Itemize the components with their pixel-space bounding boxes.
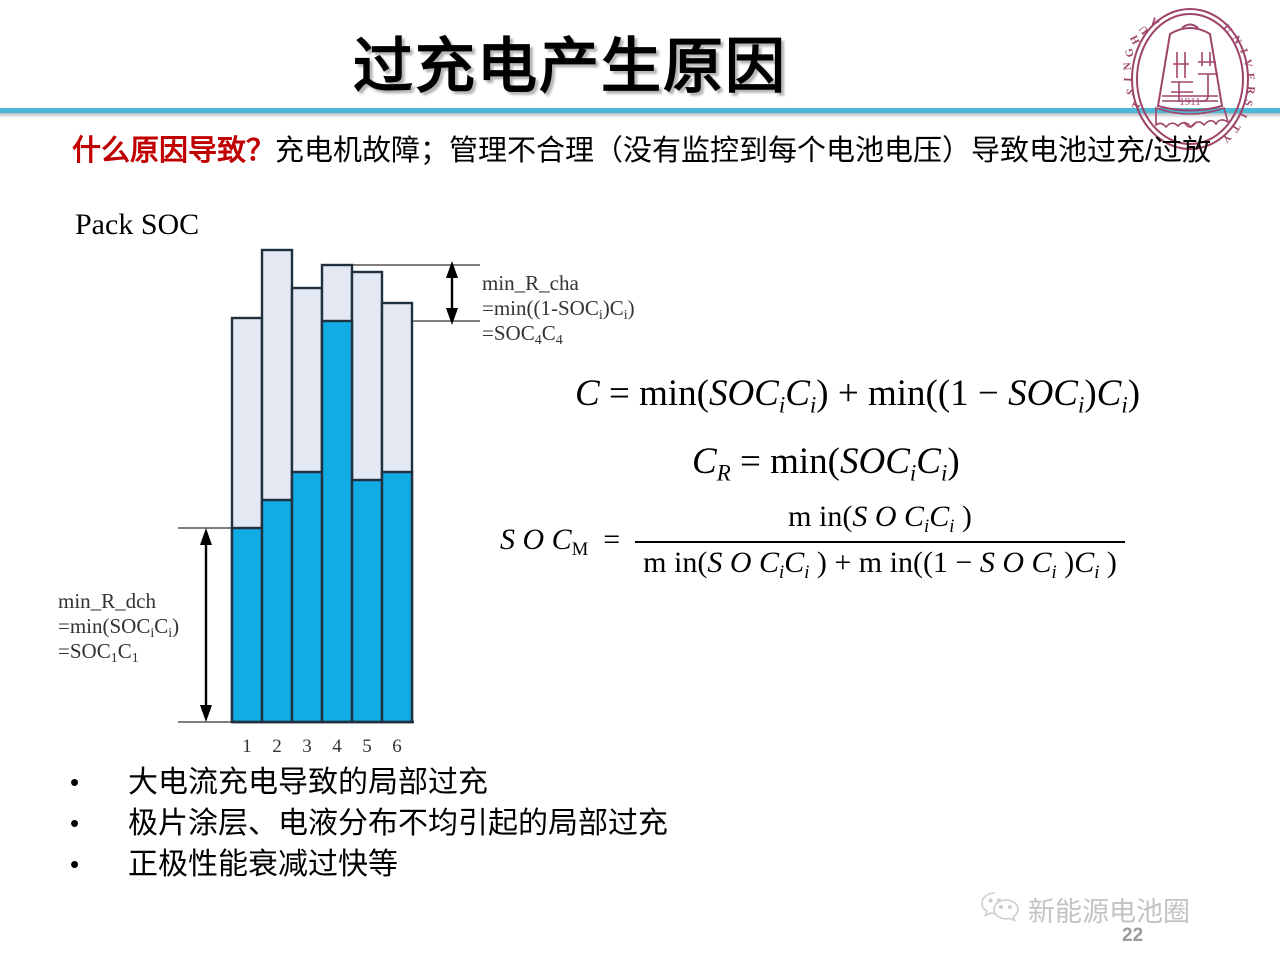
min-r-cha-arrow bbox=[446, 261, 458, 325]
bar-fill-4 bbox=[322, 321, 352, 722]
svg-text:min_R_dch: min_R_dch bbox=[58, 589, 156, 613]
list-item: • 正极性能衰减过快等 bbox=[70, 844, 668, 885]
svg-text:T: T bbox=[1130, 99, 1144, 111]
x-tick-4: 4 bbox=[332, 736, 342, 757]
svg-text:S: S bbox=[1124, 88, 1137, 97]
watermark-text: 新能源电池圈 bbox=[1028, 890, 1190, 929]
svg-text:N: N bbox=[1122, 62, 1134, 71]
list-item: • 极片涂层、电液分布不均引起的局部过充 bbox=[70, 803, 668, 844]
bar-fill-6 bbox=[382, 472, 412, 722]
svg-text:I: I bbox=[1122, 77, 1134, 82]
min-r-cha-annotation: min_R_cha =min((1-SOCi)Ci) =SOC4C4 bbox=[482, 271, 635, 348]
svg-text:V: V bbox=[1241, 58, 1254, 68]
bullet-list: • 大电流充电导致的局部过充 • 极片涂层、电液分布不均引起的局部过充 • 正极… bbox=[70, 762, 668, 885]
formula-capacity: C = min(SOCiCi) + min((1 − SOCi)Ci) bbox=[575, 372, 1140, 418]
formula-capacity-remaining: CR = min(SOCiCi) bbox=[692, 440, 960, 486]
bullet-text: 大电流充电导致的局部过充 bbox=[128, 762, 488, 803]
x-tick-5: 5 bbox=[362, 736, 372, 757]
bullet-marker: • bbox=[70, 762, 128, 803]
bullet-marker: • bbox=[70, 803, 128, 844]
svg-text:=min(SOCiCi): =min(SOCiCi) bbox=[58, 614, 179, 641]
bar-fill-5 bbox=[352, 480, 382, 722]
svg-text:U: U bbox=[1220, 22, 1234, 36]
x-tick-6: 6 bbox=[392, 736, 402, 757]
min-r-dch-annotation: min_R_dch =min(SOCiCi) =SOC1C1 bbox=[58, 589, 179, 666]
svg-text:=SOC1C1: =SOC1C1 bbox=[58, 639, 139, 666]
formula-fraction: m in(S O CiCi ) m in(S O CiCi ) + m in((… bbox=[635, 500, 1125, 584]
x-tick-1: 1 bbox=[242, 736, 252, 757]
bullet-text: 正极性能衰减过快等 bbox=[128, 844, 398, 885]
svg-text:E: E bbox=[1244, 73, 1256, 81]
slide: 过充电产生原因 1911 bbox=[0, 0, 1280, 960]
min-r-dch-arrow bbox=[200, 528, 212, 722]
bar-fill-3 bbox=[292, 472, 322, 722]
wechat-icon bbox=[980, 890, 1020, 929]
bar-fill-2 bbox=[262, 500, 292, 722]
logo-year: 1911 bbox=[1179, 96, 1201, 108]
page-number: 22 bbox=[1122, 925, 1143, 947]
svg-text:=min((1-SOCi)Ci): =min((1-SOCi)Ci) bbox=[482, 296, 635, 323]
bullet-marker: • bbox=[70, 844, 128, 885]
svg-text:=SOC4C4: =SOC4C4 bbox=[482, 321, 563, 348]
bar-fill-1 bbox=[232, 528, 262, 722]
watermark: 新能源电池圈 bbox=[980, 890, 1190, 929]
bullet-text: 极片涂层、电液分布不均引起的局部过充 bbox=[128, 803, 668, 844]
list-item: • 大电流充电导致的局部过充 bbox=[70, 762, 668, 803]
x-tick-2: 2 bbox=[272, 736, 282, 757]
svg-text:min_R_cha: min_R_cha bbox=[482, 271, 579, 295]
svg-text:A: A bbox=[1148, 15, 1162, 29]
x-tick-3: 3 bbox=[302, 736, 312, 757]
formula-soc-module: S O CM = m in(S O CiCi ) m in(S O CiCi )… bbox=[500, 500, 1125, 584]
svg-text:G: G bbox=[1123, 47, 1137, 59]
